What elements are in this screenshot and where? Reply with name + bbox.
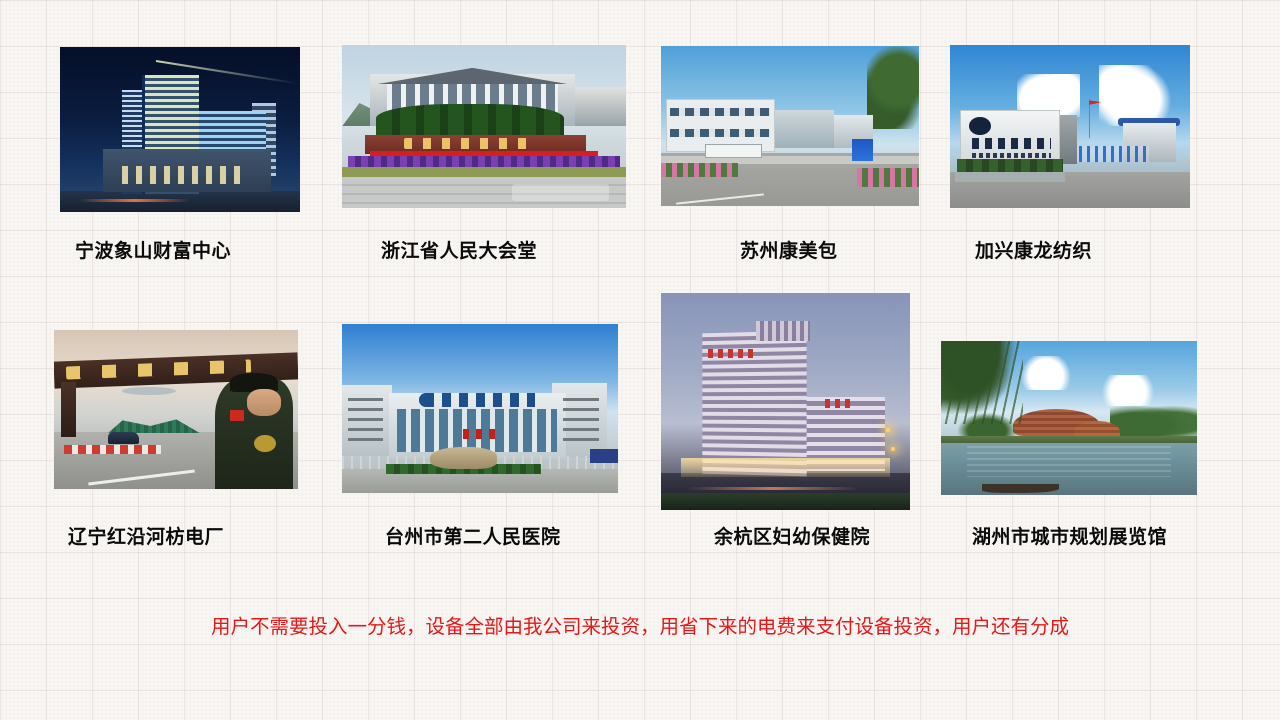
gallery-item-8[interactable]	[941, 341, 1197, 495]
zhejiang-great-hall-photo	[342, 45, 626, 208]
gallery-caption-8: 湖州市城市规划展览馆	[972, 528, 1167, 547]
slide-canvas: 宁波象山财富中心 浙江省人民大会堂	[0, 0, 1280, 720]
gallery-caption-2: 浙江省人民大会堂	[381, 242, 537, 261]
gallery-caption-7: 余杭区妇幼保健院	[714, 528, 870, 547]
ningbo-xiangshan-wealth-center-photo	[60, 47, 300, 212]
gallery-item-1[interactable]	[60, 47, 300, 212]
gallery-caption-6: 台州市第二人民医院	[385, 528, 561, 547]
liaoning-hongyanhe-power-plant-photo	[54, 330, 298, 489]
huzhou-urban-planning-exhibition-hall-photo	[941, 341, 1197, 495]
taizhou-second-peoples-hospital-photo	[342, 324, 618, 493]
jiaxing-cone-denim-photo	[950, 45, 1190, 208]
gallery-caption-4: 加兴康龙纺织	[975, 242, 1092, 261]
gallery-caption-5: 辽宁红沿河枋电厂	[68, 528, 224, 547]
gallery-item-2[interactable]	[342, 45, 626, 208]
gallery-caption-1: 宁波象山财富中心	[75, 242, 231, 261]
footnote-text: 用户不需要投入一分钱，设备全部由我公司来投资，用省下来的电费来支付设备投资，用户…	[0, 617, 1280, 637]
suzhou-combibloc-photo	[661, 46, 919, 206]
gallery-caption-3: 苏州康美包	[740, 242, 838, 261]
yuhang-maternal-child-hospital-photo	[661, 293, 910, 510]
gallery-item-5[interactable]	[54, 330, 298, 489]
gallery-item-6[interactable]	[342, 324, 618, 493]
gallery-item-3[interactable]	[661, 46, 919, 206]
gallery-item-7[interactable]	[661, 293, 910, 510]
gallery-item-4[interactable]	[950, 45, 1190, 208]
